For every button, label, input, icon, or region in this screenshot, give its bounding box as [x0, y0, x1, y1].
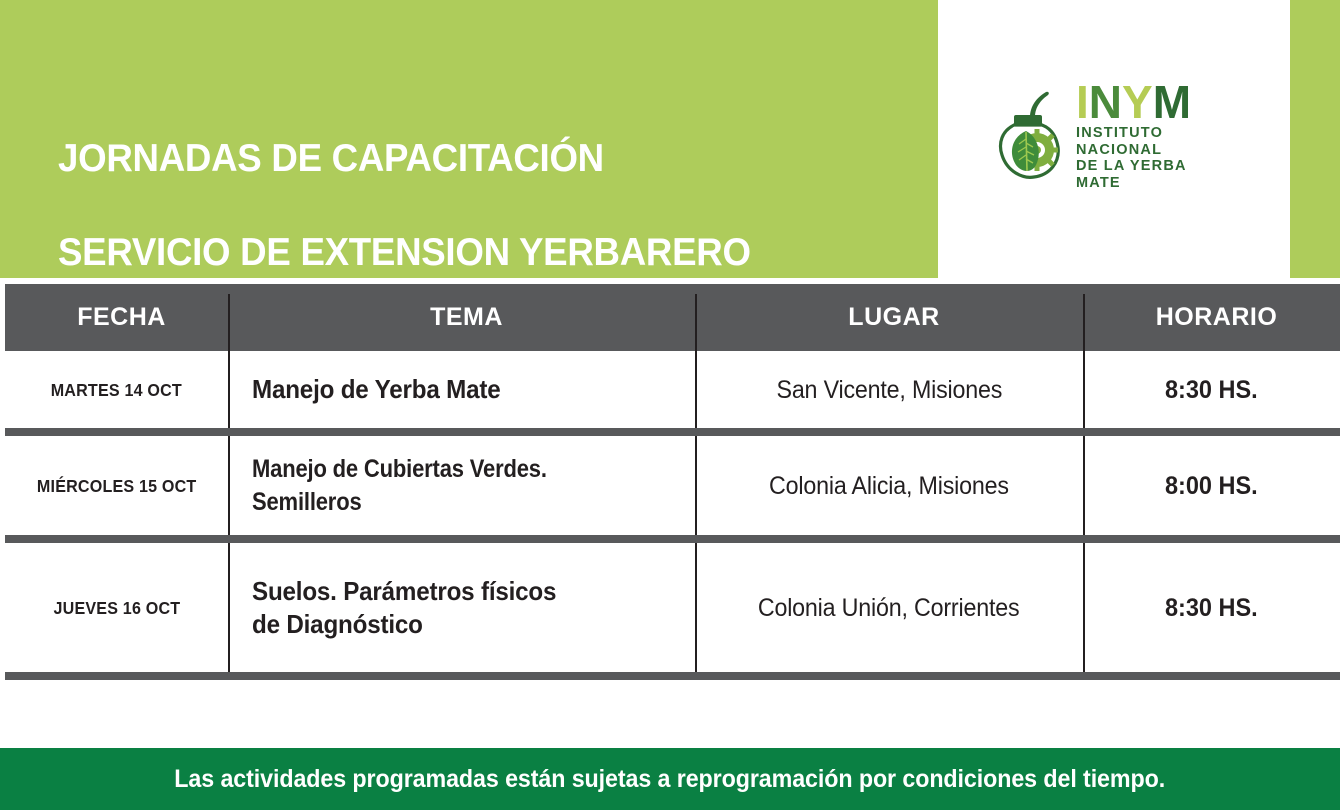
row-divider-2 — [5, 535, 1340, 543]
cell-tema: Suelos. Parámetros físicos de Diagnóstic… — [228, 543, 695, 672]
logo-text: I N Y M INSTITUTO NACIONAL DE LA YERBA M… — [1076, 79, 1236, 191]
cell-tema-text: Manejo de Cubiertas Verdes. Semilleros — [252, 453, 642, 519]
logo-letter-i: I — [1076, 79, 1089, 125]
footer-notice-text: Las actividades programadas están sujeta… — [175, 765, 1166, 794]
poster-root: JORNADAS DE CAPACITACIÓN SERVICIO DE EXT… — [0, 0, 1340, 810]
cell-tema: Manejo de Yerba Mate — [228, 351, 695, 428]
logo-wordmark: I N Y M — [1076, 79, 1236, 125]
table-row: MARTES 14 OCT Manejo de Yerba Mate San V… — [5, 351, 1340, 428]
row-divider-1 — [5, 428, 1340, 436]
mate-gourd-leaf-gear-icon — [996, 87, 1070, 183]
logo-subtitle-line-1: INSTITUTO NACIONAL — [1076, 125, 1236, 158]
table-header-row: FECHA TEMA LUGAR HORARIO — [5, 284, 1340, 351]
cell-fecha: JUEVES 16 OCT — [5, 543, 228, 672]
logo-letter-y: Y — [1122, 79, 1153, 125]
cell-lugar-text: Colonia Unión, Corrientes — [758, 593, 1020, 623]
cell-lugar: San Vicente, Misiones — [695, 351, 1083, 428]
cell-tema-text: Manejo de Yerba Mate — [252, 373, 500, 406]
cell-fecha: MIÉRCOLES 15 OCT — [5, 436, 228, 535]
cell-lugar-text: Colonia Alicia, Misiones — [769, 471, 1009, 501]
cell-lugar-text: San Vicente, Misiones — [776, 375, 1002, 405]
header-banner: JORNADAS DE CAPACITACIÓN SERVICIO DE EXT… — [0, 0, 1340, 278]
cell-horario-text: 8:00 HS. — [1165, 471, 1258, 501]
column-header-fecha: FECHA — [10, 284, 233, 351]
cell-tema: Manejo de Cubiertas Verdes. Semilleros — [228, 436, 695, 535]
table-row: JUEVES 16 OCT Suelos. Parámetros físicos… — [5, 543, 1340, 672]
page-title-line-1: JORNADAS DE CAPACITACIÓN — [58, 135, 866, 182]
cell-tema-text: Suelos. Parámetros físicos de Diagnóstic… — [252, 575, 556, 641]
column-header-lugar: LUGAR — [700, 284, 1088, 351]
inym-logo: I N Y M INSTITUTO NACIONAL DE LA YERBA M… — [996, 80, 1236, 190]
logo-letter-m: M — [1153, 79, 1191, 125]
cell-lugar: Colonia Alicia, Misiones — [695, 436, 1083, 535]
cell-fecha: MARTES 14 OCT — [5, 351, 228, 428]
row-divider-3 — [5, 672, 1340, 680]
cell-fecha-text: JUEVES 16 OCT — [53, 597, 180, 619]
table-row: MIÉRCOLES 15 OCT Manejo de Cubiertas Ver… — [5, 436, 1340, 535]
logo-subtitle: INSTITUTO NACIONAL DE LA YERBA MATE — [1076, 125, 1236, 191]
cell-fecha-text: MARTES 14 OCT — [51, 379, 182, 401]
page-title-line-2: SERVICIO DE EXTENSION YERBARERO — [58, 229, 866, 276]
logo-subtitle-line-2: DE LA YERBA MATE — [1076, 158, 1236, 191]
footer-notice-banner: Las actividades programadas están sujeta… — [0, 748, 1340, 810]
logo-letter-n: N — [1089, 79, 1122, 125]
cell-fecha-text: MIÉRCOLES 15 OCT — [37, 475, 197, 497]
column-header-tema: TEMA — [233, 284, 700, 351]
cell-horario: 8:30 HS. — [1083, 543, 1340, 672]
cell-horario-text: 8:30 HS. — [1165, 593, 1258, 623]
column-header-horario: HORARIO — [1088, 284, 1340, 351]
cell-lugar: Colonia Unión, Corrientes — [695, 543, 1083, 672]
cell-horario: 8:00 HS. — [1083, 436, 1340, 535]
cell-horario-text: 8:30 HS. — [1165, 375, 1258, 405]
cell-horario: 8:30 HS. — [1083, 351, 1340, 428]
schedule-table: FECHA TEMA LUGAR HORARIO MARTES 14 OCT M… — [0, 284, 1340, 678]
